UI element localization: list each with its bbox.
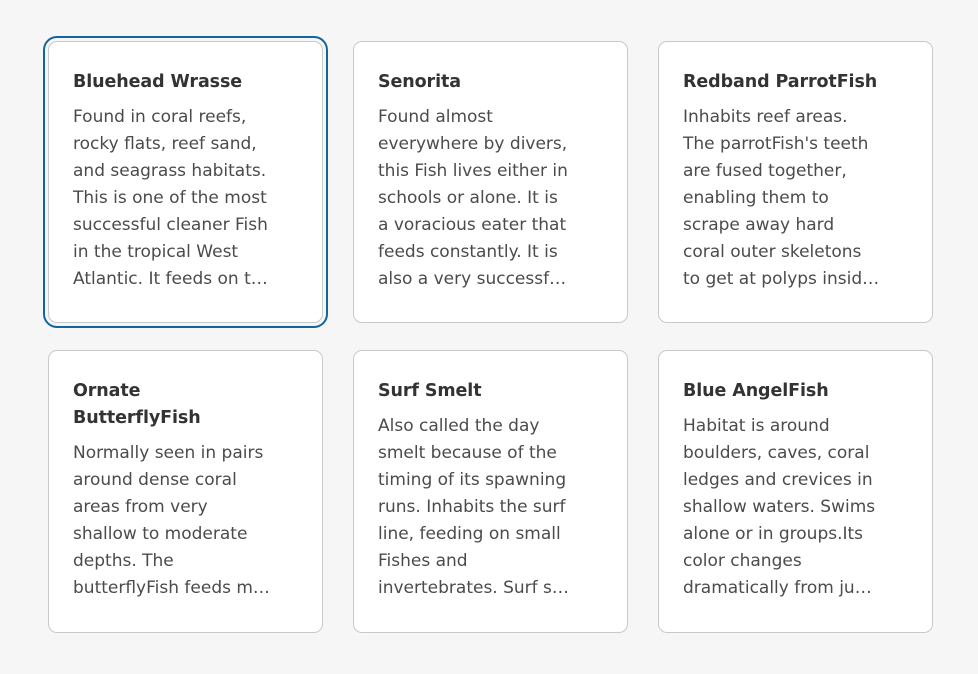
card-title: Senorita: [378, 69, 605, 96]
card-title: Ornate ButterflyFish: [73, 378, 213, 432]
card-title: Surf Smelt: [378, 378, 605, 405]
card-redband-parrotfish[interactable]: Redband ParrotFish Inhabits reef areas. …: [658, 41, 933, 323]
card-ornate-butterflyfish[interactable]: Ornate ButterflyFish Normally seen in pa…: [48, 350, 323, 633]
card-title: Blue AngelFish: [683, 378, 910, 405]
card-title: Redband ParrotFish: [683, 69, 910, 96]
card-bluehead-wrasse[interactable]: Bluehead Wrasse Found in coral reefs, ro…: [48, 41, 323, 323]
card-description: Also called the day smelt because of the…: [378, 413, 605, 602]
card-description: Inhabits reef areas. The parrotFish's te…: [683, 104, 910, 293]
card-description: Found almost everywhere by divers, this …: [378, 104, 605, 293]
card-grid: Bluehead Wrasse Found in coral reefs, ro…: [48, 41, 938, 633]
card-description: Found in coral reefs, rocky flats, reef …: [73, 104, 300, 293]
card-title: Bluehead Wrasse: [73, 69, 300, 96]
card-description: Normally seen in pairs around dense cora…: [73, 440, 300, 602]
card-senorita[interactable]: Senorita Found almost everywhere by dive…: [353, 41, 628, 323]
card-blue-angelfish[interactable]: Blue AngelFish Habitat is around boulder…: [658, 350, 933, 633]
card-description: Habitat is around boulders, caves, coral…: [683, 413, 910, 602]
card-surf-smelt[interactable]: Surf Smelt Also called the day smelt bec…: [353, 350, 628, 633]
